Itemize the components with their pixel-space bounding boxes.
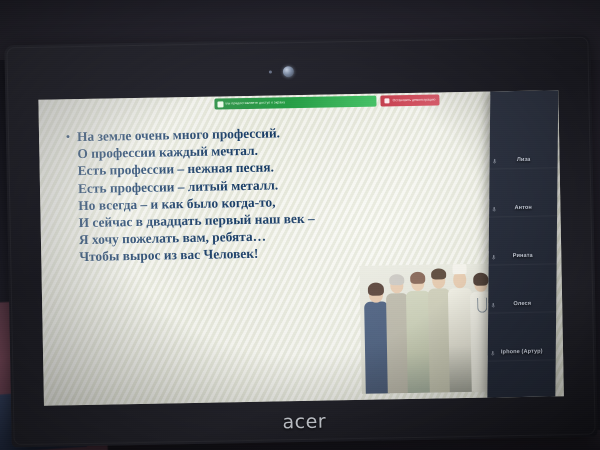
microphone-muted-icon bbox=[491, 302, 495, 308]
participant-name: Рината bbox=[513, 253, 533, 264]
laptop: • На земле очень много профессий. О проф… bbox=[4, 35, 597, 448]
person-hair bbox=[473, 273, 488, 286]
webcam-led-icon bbox=[269, 71, 272, 74]
microphone-muted-icon bbox=[493, 158, 497, 164]
participant-name: Антон bbox=[514, 205, 531, 216]
participant-tile[interactable]: Лиза bbox=[490, 120, 558, 169]
screen-share-notification-bar: Вы предоставляете доступ к экрану Остано… bbox=[214, 94, 439, 109]
stop-sharing-label: Остановить демонстрацию bbox=[393, 98, 436, 102]
stop-sharing-button[interactable]: Остановить демонстрацию bbox=[381, 94, 440, 106]
sharing-indicator-label: Вы предоставляете доступ к экрану bbox=[225, 101, 285, 105]
poem-block: • На земле очень много профессий. О проф… bbox=[77, 121, 439, 265]
participant-name: Олеся bbox=[513, 301, 531, 312]
person-hair bbox=[389, 274, 404, 285]
person-hair bbox=[368, 282, 384, 295]
participant-tile[interactable]: Iphone (Артур) bbox=[488, 312, 556, 361]
stop-square-icon bbox=[385, 98, 390, 103]
bullet-icon: • bbox=[66, 129, 70, 146]
microphone-muted-icon bbox=[491, 350, 495, 356]
shared-slide: • На земле очень много профессий. О проф… bbox=[38, 90, 564, 405]
sidebar-top-spacer bbox=[490, 90, 558, 121]
person-hair bbox=[431, 268, 446, 279]
screen-share-icon bbox=[217, 101, 223, 107]
participant-name: Iphone (Артур) bbox=[501, 349, 543, 361]
participant-tile[interactable]: Рината bbox=[489, 216, 557, 265]
microphone-muted-icon bbox=[492, 206, 496, 212]
person-hair bbox=[410, 272, 425, 284]
participant-tile[interactable]: Олеся bbox=[488, 264, 556, 313]
laptop-screen: • На земле очень много профессий. О проф… bbox=[38, 90, 564, 405]
sharing-indicator: Вы предоставляете доступ к экрану bbox=[214, 96, 376, 110]
participant-tile[interactable]: Антон bbox=[489, 168, 557, 217]
microphone-muted-icon bbox=[492, 254, 496, 260]
chef-hat-icon bbox=[452, 263, 466, 275]
photo-scene: • На земле очень много профессий. О проф… bbox=[0, 0, 600, 450]
stethoscope-icon bbox=[477, 298, 487, 313]
participant-name: Лиза bbox=[517, 157, 531, 168]
participant-sidebar[interactable]: Лиза Антон Рината bbox=[487, 90, 558, 397]
